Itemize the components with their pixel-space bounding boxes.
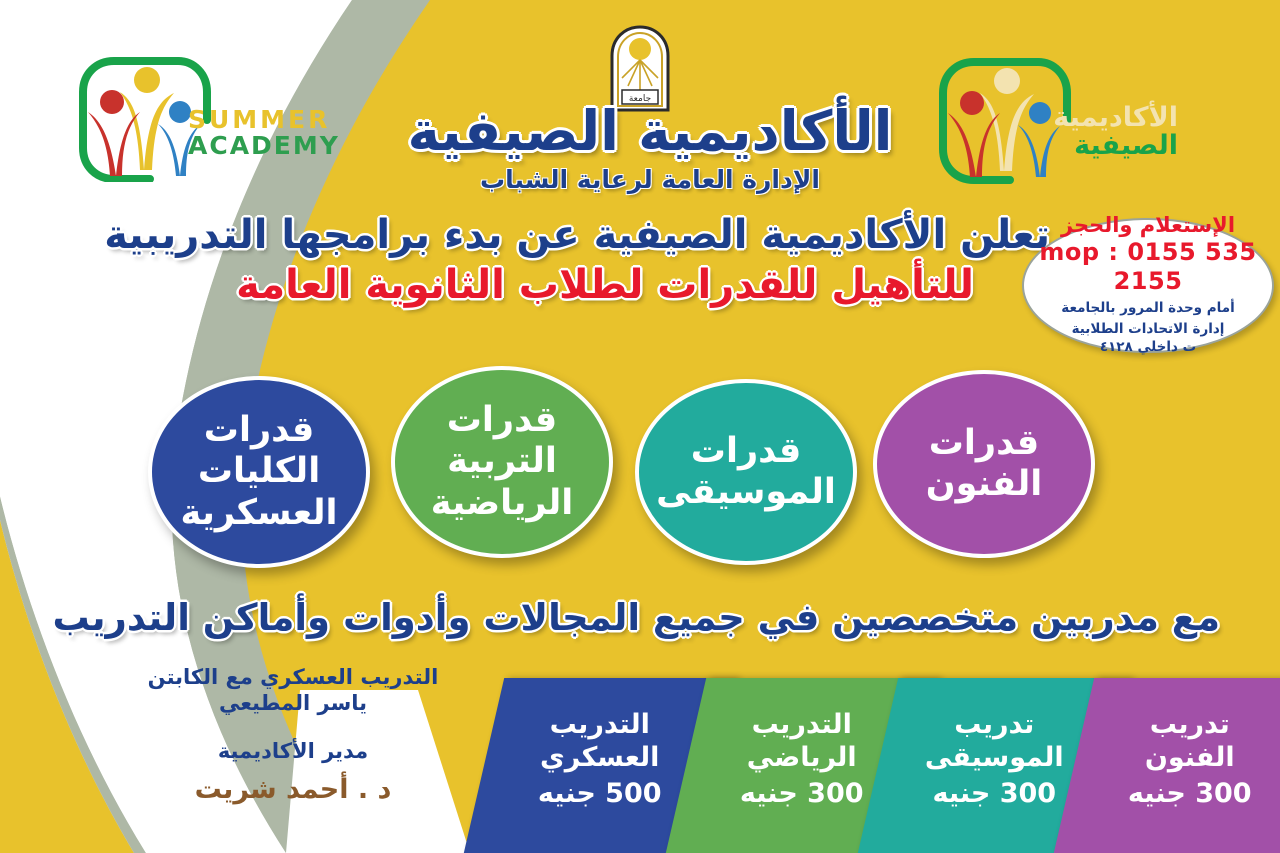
circle-music[interactable]: قدرات الموسيقى — [635, 379, 857, 565]
figure-head-red — [100, 90, 124, 114]
page-subtitle: الإدارة العامة لرعاية الشباب — [300, 167, 1000, 192]
circle-line-3: الرياضية — [431, 483, 574, 524]
circle-line-2: الفنون — [926, 464, 1042, 505]
banner-price: 300 جنيه — [1128, 777, 1252, 810]
program-circles: قدرات الكليات العسكرية قدرات التربية الر… — [148, 366, 1158, 566]
banner-price: 300 جنيه — [925, 777, 1064, 810]
announcement-line-2: للتأهيل للقدرات لطلاب الثانوية العامة — [160, 264, 1050, 306]
circle-line-1: قدرات — [431, 400, 574, 441]
page-title-block: الأكاديمية الصيفية الإدارة العامة لرعاية… — [300, 104, 1000, 192]
logo-word-academy: ACADEMY — [188, 133, 318, 159]
contact-phone[interactable]: mop : 0155 535 2155 — [1034, 238, 1262, 296]
contact-extension: ت داخلي ٤١٢٨ — [1100, 338, 1196, 356]
contact-title: الإستعلام والحجز — [1061, 214, 1235, 237]
circle-line-3: العسكرية — [181, 493, 338, 534]
logo-frame-left — [83, 61, 178, 179]
price-banners: التدريب العسكري 500 جنيه التدريب الرياضي… — [396, 678, 1280, 853]
circle-line-1: قدرات — [926, 423, 1042, 464]
trainers-line: مع مدربين متخصصين في جميع المجالات وأدوا… — [60, 598, 1220, 639]
banner-price: 300 جنيه — [740, 777, 864, 810]
summer-academy-logo: SUMMER ACADEMY — [70, 52, 315, 182]
poster-root: SUMMER ACADEMY الأكاديمية الصيفية — [0, 0, 1280, 853]
banner-name-line-1: تدريب — [925, 709, 1064, 742]
banner-name-line-2: الرياضي — [740, 742, 864, 775]
banner-name-line-2: الموسيقى — [925, 742, 1064, 775]
announcement-line-1: تعلن الأكاديمية الصيفية عن بدء برامجها ا… — [160, 214, 1050, 256]
announcement-block: تعلن الأكاديمية الصيفية عن بدء برامجها ا… — [160, 214, 1050, 306]
banner-name-line-1: تدريب — [1128, 709, 1252, 742]
circle-line-2: الكليات — [181, 451, 338, 492]
banner-name-line-2: الفنون — [1128, 742, 1252, 775]
circle-arts[interactable]: قدرات الفنون — [873, 370, 1095, 558]
logo-word-academy-ar: الأكاديمية — [1046, 104, 1178, 132]
contact-box[interactable]: الإستعلام والحجز mop : 0155 535 2155 أما… — [1022, 218, 1274, 353]
banner-arts-training[interactable]: تدريب الفنون 300 جنيه — [1054, 678, 1280, 853]
contact-address-line-2: إدارة الاتحادات الطلابية — [1072, 320, 1225, 338]
banner-name-line-2: العسكري — [538, 742, 662, 775]
banner-price: 500 جنيه — [538, 777, 662, 810]
logo-word-summer: SUMMER — [188, 107, 318, 133]
figure-head-yellow — [134, 67, 160, 93]
logo-word-summer-ar: الصيفية — [1046, 132, 1178, 160]
circle-military-colleges[interactable]: قدرات الكليات العسكرية — [148, 376, 370, 568]
circle-line-1: قدرات — [181, 410, 338, 451]
figure-body-red — [88, 112, 140, 176]
banner-name-line-1: التدريب — [538, 709, 662, 742]
emblem-sun — [629, 38, 651, 60]
circle-physical-education[interactable]: قدرات التربية الرياضية — [391, 366, 613, 558]
banner-name-line-1: التدريب — [740, 709, 864, 742]
page-title: الأكاديمية الصيفية — [300, 104, 1000, 159]
circle-line-1: قدرات — [656, 431, 836, 472]
circle-line-2: التربية — [431, 441, 574, 482]
contact-address-line-1: أمام وحدة المرور بالجامعة — [1061, 299, 1234, 317]
figure-head-cream — [994, 68, 1020, 94]
circle-line-2: الموسيقى — [656, 472, 836, 513]
